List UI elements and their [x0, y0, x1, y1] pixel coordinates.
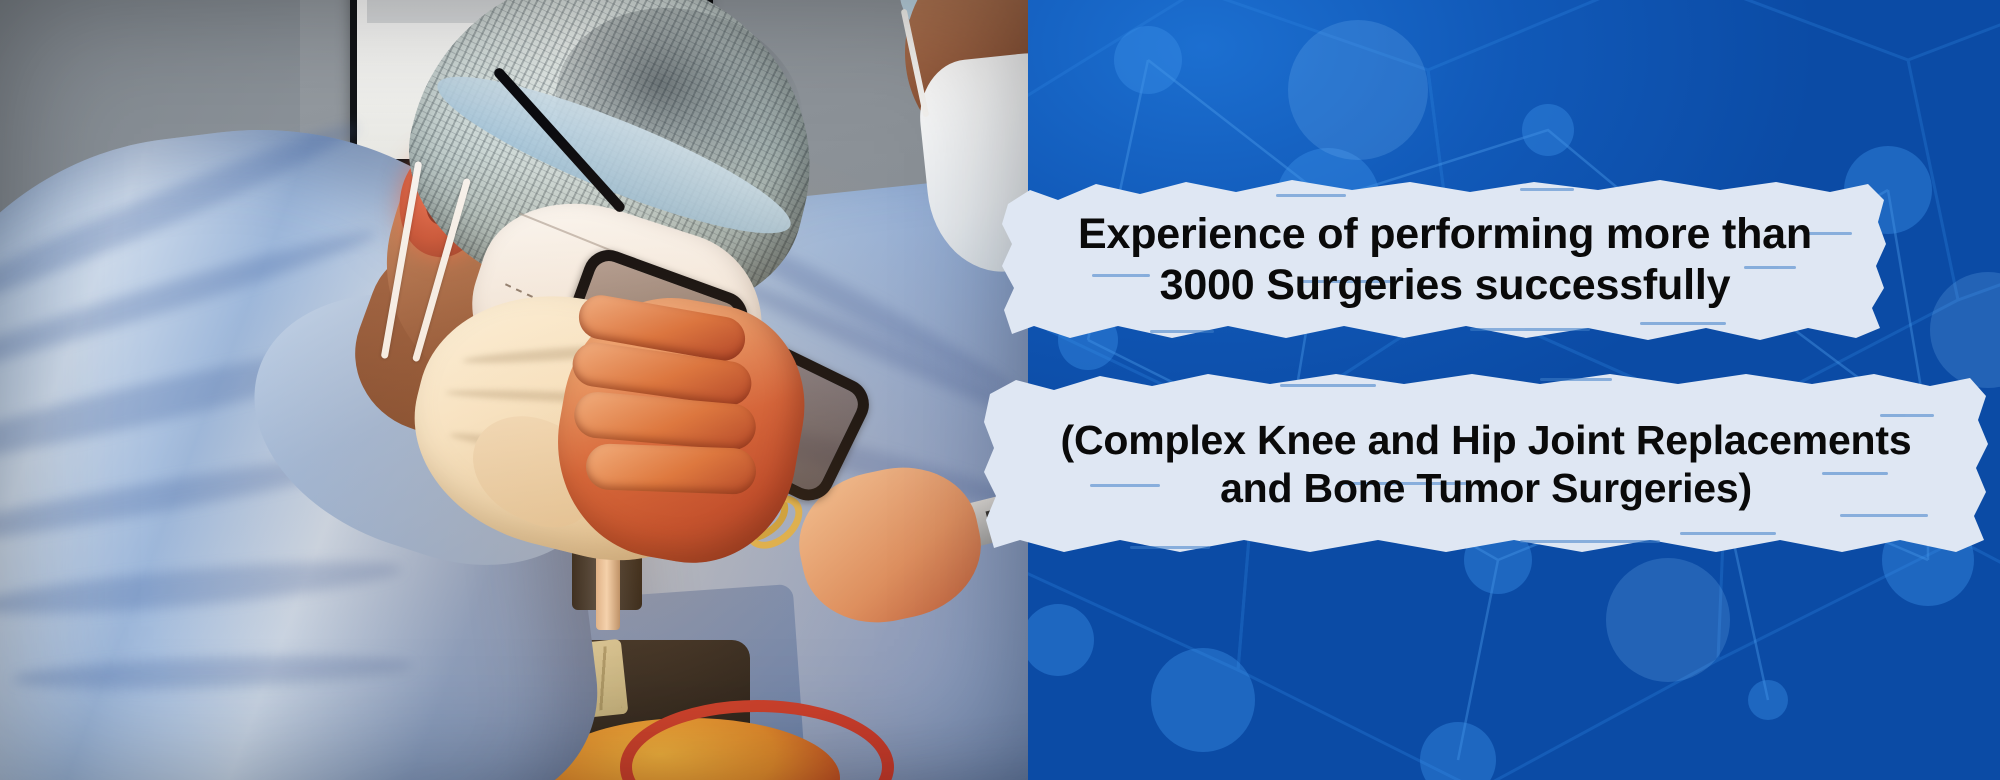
- experience-line-2: 3000 Surgeries successfully: [1160, 260, 1731, 311]
- specialties-line-1: (Complex Knee and Hip Joint Replacements: [1061, 416, 1912, 464]
- surgery-photo: [0, 0, 1028, 780]
- specialties-banner: (Complex Knee and Hip Joint Replacements…: [980, 364, 1992, 564]
- promo-banner-root: Experience of performing more than 3000 …: [0, 0, 2000, 780]
- finger-little: [585, 443, 757, 495]
- experience-banner-text: Experience of performing more than 3000 …: [1000, 170, 1890, 350]
- specialties-line-2: and Bone Tumor Surgeries): [1220, 464, 1752, 512]
- experience-banner: Experience of performing more than 3000 …: [1000, 170, 1890, 350]
- specialties-banner-text: (Complex Knee and Hip Joint Replacements…: [980, 364, 1992, 564]
- experience-line-1: Experience of performing more than: [1078, 209, 1812, 260]
